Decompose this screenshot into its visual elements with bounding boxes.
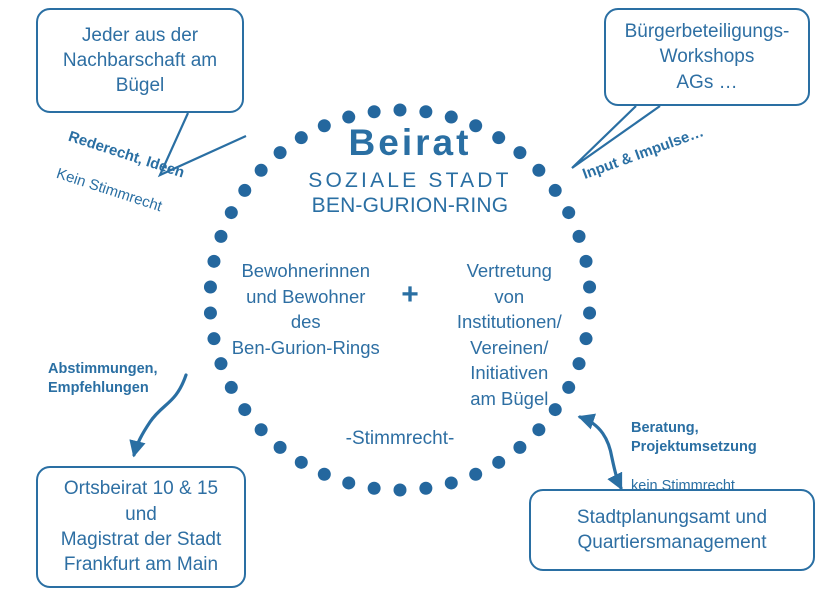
ring-dot: [532, 423, 545, 436]
ring-dot: [255, 423, 268, 436]
ring-dot: [573, 230, 586, 243]
ring-dot: [394, 104, 407, 117]
diagram-canvas: Jeder aus der Nachbarschaft am Bügel Bür…: [0, 0, 820, 600]
label-abstimmungen: Abstimmungen, Empfehlungen: [48, 360, 228, 398]
ring-dot: [318, 468, 331, 481]
label-rederecht: Rederecht, Ideen Kein Stimmrecht: [48, 108, 193, 238]
circle-heading: Beirat SOZIALE STADT BEN-GURION-RING: [230, 124, 590, 218]
bubble-workshops[interactable]: Bürgerbeteiligungs- Workshops AGs …: [604, 8, 810, 106]
ring-dot: [295, 456, 308, 469]
ring-dot: [368, 482, 381, 495]
label-beratung: Beratung, Projektumsetzung kein Stimmrec…: [631, 400, 811, 515]
plus-icon: +: [393, 280, 427, 310]
label-beratung-bold: Beratung, Projektumsetzung: [631, 419, 811, 457]
ring-dot: [419, 105, 432, 118]
ring-dot: [492, 456, 505, 469]
circle-membership-columns: Bewohnerinnen und Bewohner des Ben-Gurio…: [205, 258, 605, 411]
circle-subtitle-program: SOZIALE STADT: [230, 169, 590, 193]
arrow-beratung: [580, 417, 621, 488]
bubble-neighbourhood-text: Jeder aus der Nachbarschaft am Bügel: [63, 23, 217, 99]
label-beratung-regular: kein Stimmrecht: [631, 477, 811, 496]
bubble-neighbourhood[interactable]: Jeder aus der Nachbarschaft am Bügel: [36, 8, 244, 113]
membership-institutions: Vertretung von Institutionen/ Vereinen/ …: [427, 258, 592, 411]
ring-dot: [513, 441, 526, 454]
ring-dot: [274, 441, 287, 454]
circle-footer-stimmrecht: -Stimmrecht-: [290, 428, 510, 450]
ring-dot: [394, 484, 407, 497]
ring-dot: [445, 476, 458, 489]
box-ortsbeirat-text: Ortsbeirat 10 & 15 und Magistrat der Sta…: [61, 476, 222, 577]
ring-dot: [419, 482, 432, 495]
membership-residents: Bewohnerinnen und Bewohner des Ben-Gurio…: [218, 258, 393, 360]
label-input-impulse: Input & Impulse…: [580, 122, 706, 184]
ring-dot: [368, 105, 381, 118]
box-ortsbeirat[interactable]: Ortsbeirat 10 & 15 und Magistrat der Sta…: [36, 466, 246, 588]
ring-dot: [342, 476, 355, 489]
circle-subtitle-location: BEN-GURION-RING: [230, 194, 590, 218]
circle-title: Beirat: [230, 124, 590, 163]
bubble-workshops-text: Bürgerbeteiligungs- Workshops AGs …: [625, 19, 790, 95]
ring-dot: [214, 230, 227, 243]
ring-dot: [469, 468, 482, 481]
